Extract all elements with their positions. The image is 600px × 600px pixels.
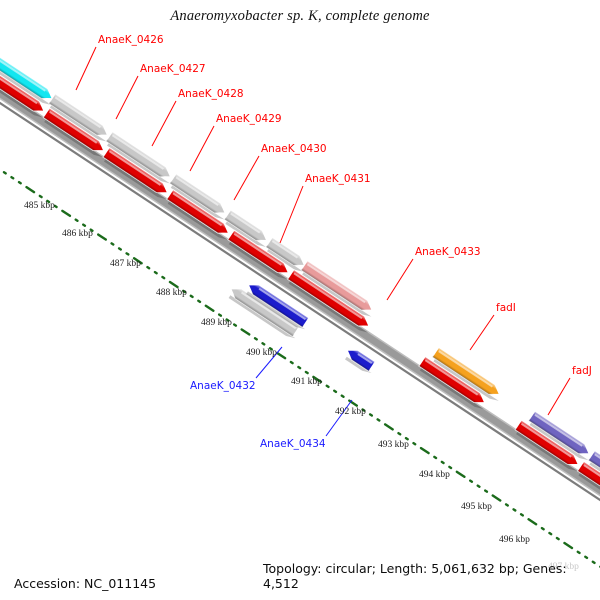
ruler-label-492-kbp: 492 kbp: [335, 407, 366, 417]
gene-label-anaek-0433[interactable]: AnaeK_0433: [415, 246, 481, 258]
ruler-label-490-kbp: 490 kbp: [246, 348, 277, 358]
gene-label-anaek-0431[interactable]: AnaeK_0431: [305, 173, 371, 185]
ruler-label-495-kbp: 495 kbp: [461, 502, 492, 512]
topology-text: Topology: circular; Length: 5,061,632 bp…: [263, 561, 600, 591]
gene-label-fadi[interactable]: fadI: [496, 302, 516, 314]
ruler-label-487-kbp: 487 kbp: [110, 259, 141, 269]
ruler-label-486-kbp: 486 kbp: [62, 229, 93, 239]
ruler-label-494-kbp: 494 kbp: [419, 470, 450, 480]
ruler-label-491-kbp: 491 kbp: [291, 377, 322, 387]
gene-label-anaek-0426[interactable]: AnaeK_0426: [98, 34, 164, 46]
genome-diagram[interactable]: [0, 0, 600, 600]
ruler-label-485-kbp: 485 kbp: [24, 201, 55, 211]
gene-label-anaek-0432[interactable]: AnaeK_0432: [190, 380, 256, 392]
gene-label-anaek-0428[interactable]: AnaeK_0428: [178, 88, 244, 100]
ruler-label-489-kbp: 489 kbp: [201, 318, 232, 328]
ruler-label-496-kbp: 496 kbp: [499, 535, 530, 545]
status-bar: Accession: NC_011145 Topology: circular;…: [0, 566, 600, 600]
gene-label-anaek-0434[interactable]: AnaeK_0434: [260, 438, 326, 450]
accession-text: Accession: NC_011145: [14, 576, 156, 591]
gene-label-anaek-0427[interactable]: AnaeK_0427: [140, 63, 206, 75]
ruler-label-488-kbp: 488 kbp: [156, 288, 187, 298]
gene-label-anaek-0430[interactable]: AnaeK_0430: [261, 143, 327, 155]
label-leader-lines: [76, 47, 570, 436]
gene-label-fadj[interactable]: fadJ: [572, 365, 592, 377]
gene-label-anaek-0429[interactable]: AnaeK_0429: [216, 113, 282, 125]
ruler-label-493-kbp: 493 kbp: [378, 440, 409, 450]
genome-viewer-canvas[interactable]: Anaeromyxobacter sp. K, complete genome …: [0, 0, 600, 600]
